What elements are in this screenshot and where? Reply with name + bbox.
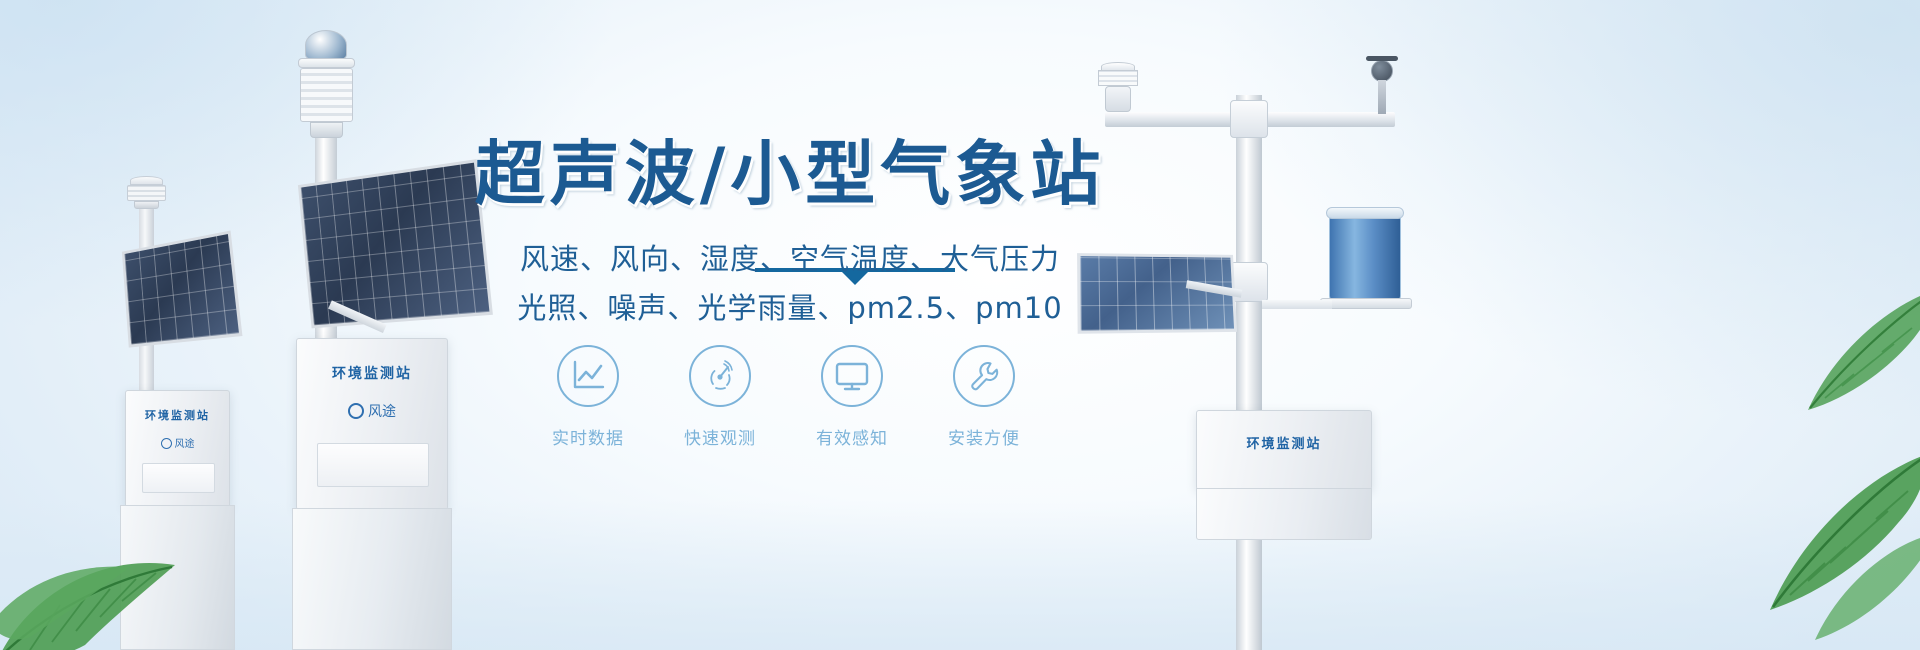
mast-large [1236,95,1262,650]
station-label-mid: 环境监测站 [297,363,447,383]
radar-observation-icon [689,345,751,407]
feature-item-easy-install[interactable]: 安装方便 [932,345,1036,449]
mast-collar-upper [1230,100,1268,138]
enclosure-box-mid: 环境监测站 风途 [296,338,448,510]
feature-label: 有效感知 [800,424,904,449]
dome-sensor-mid [305,30,347,60]
palm-leaf-right-upper [1730,270,1920,455]
line-chart-icon [557,345,619,407]
monitor-icon [821,345,883,407]
ultrasonic-sensor-small [124,176,169,210]
solar-panel-large [1077,253,1237,334]
product-banner: 环境监测站 风途 环境监测站 风途 超声波/ [0,0,1920,650]
brand-mid: 风途 [297,401,447,421]
feature-label: 快速观测 [668,424,772,449]
feature-list: 实时数据 快速观测 [536,345,1036,449]
palm-leaf-left [0,445,220,650]
radiation-shield-mid [300,68,353,122]
feature-label: 实时数据 [536,424,640,449]
enclosure-box-large: 环境监测站 [1196,410,1372,490]
shield-base-mid [310,122,343,138]
feature-label: 安装方便 [932,424,1036,449]
banner-title: 超声波/小型气象站 [450,118,1130,219]
banner-content: 超声波/小型气象站 风速、风向、湿度、空气温度、大气压力 光照、噪声、光学雨量、… [440,0,1140,650]
wrench-icon [953,345,1015,407]
subtitle-line-1: 风速、风向、湿度、空气温度、大气压力 [440,236,1140,278]
station-base-mid [292,508,452,650]
feature-item-effective-sensing[interactable]: 有效感知 [800,345,904,449]
dome-collar-mid [298,58,355,68]
solar-panel-small [122,230,243,347]
station-label-small: 环境监测站 [126,407,229,423]
brand-logo-icon-mid [348,403,364,419]
subtitle-line-2: 光照、噪声、光学雨量、pm2.5、pm10 [440,285,1140,327]
feature-item-realtime-data[interactable]: 实时数据 [536,345,640,449]
feature-item-fast-observation[interactable]: 快速观测 [668,345,772,449]
panel-vent-mid [317,443,429,487]
enclosure-lower-large [1196,488,1372,540]
station-label-large: 环境监测站 [1197,433,1371,452]
